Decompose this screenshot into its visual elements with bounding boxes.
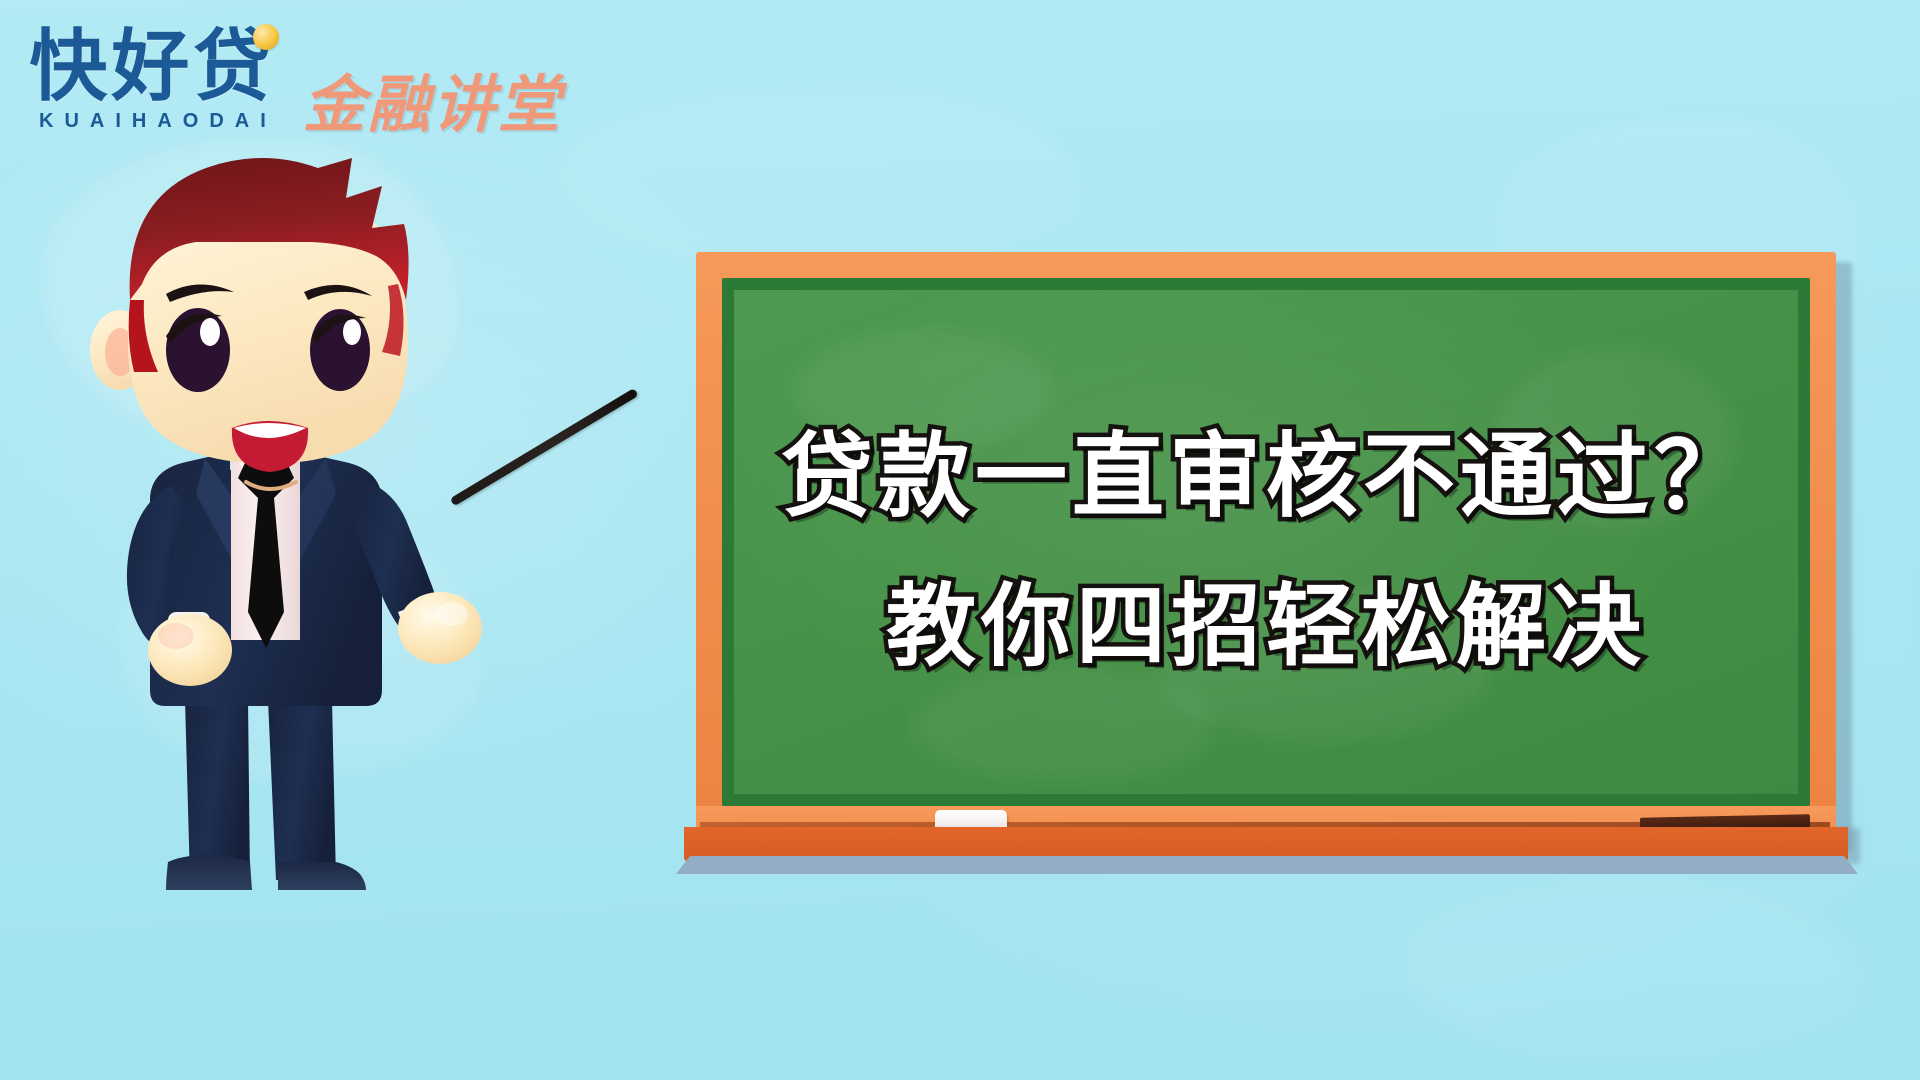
blackboard-surface <box>734 290 1798 794</box>
legs <box>166 700 366 890</box>
poster-canvas: 快好贷 KUAIHAODAI 金融讲堂 贷款一直审核不通过？ 教你四招轻松解决 <box>0 0 1920 1080</box>
background-blotch <box>560 90 1080 270</box>
head <box>90 158 409 489</box>
chalk-ledge-base <box>676 856 1858 874</box>
left-hand <box>148 614 232 686</box>
background-blotch <box>1400 880 1860 1060</box>
teacher-mascot <box>0 0 560 1000</box>
chalk-ledge-front <box>684 827 1848 861</box>
right-hand <box>398 592 482 664</box>
